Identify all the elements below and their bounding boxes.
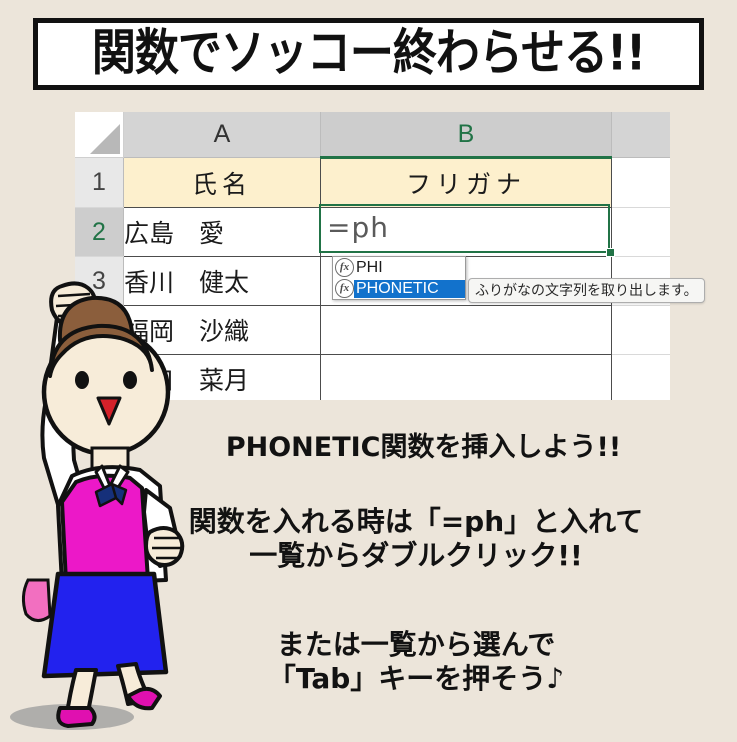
cell-c1[interactable] <box>612 158 671 208</box>
table-row: 1 氏名 フリガナ <box>75 158 670 208</box>
page-title: 関数でソッコー終わらせる!! <box>92 29 645 78</box>
fx-icon: fx <box>335 279 354 298</box>
cheering-office-lady-illustration <box>0 280 210 737</box>
cell-c4[interactable] <box>612 306 671 355</box>
title-banner: 関数でソッコー終わらせる!! <box>33 18 704 90</box>
autocomplete-item-phi[interactable]: fx PHI <box>333 257 465 278</box>
column-header-a[interactable]: A <box>124 112 321 158</box>
cell-b5[interactable] <box>321 355 612 401</box>
select-all-button[interactable] <box>75 112 124 158</box>
column-header-c[interactable]: C <box>612 112 671 158</box>
cell-b4[interactable] <box>321 306 612 355</box>
cell-c5[interactable] <box>612 355 671 401</box>
cell-a2[interactable]: 広島 愛 <box>124 208 321 257</box>
function-tooltip: ふりがなの文字列を取り出します。 <box>468 278 705 303</box>
fill-handle[interactable] <box>606 248 615 257</box>
autocomplete-item-phonetic[interactable]: fx PHONETIC <box>333 278 465 299</box>
row-header-1[interactable]: 1 <box>75 158 124 208</box>
formula-autocomplete-list[interactable]: fx PHI fx PHONETIC <box>332 256 466 300</box>
autocomplete-item-label: PHI <box>354 259 383 277</box>
active-cell-formula-text: =ph <box>327 211 389 244</box>
fx-icon: fx <box>335 258 354 277</box>
row-header-2[interactable]: 2 <box>75 208 124 257</box>
autocomplete-item-label: PHONETIC <box>354 280 465 298</box>
select-all-triangle-icon <box>90 124 120 154</box>
column-header-row: A B C <box>75 112 670 158</box>
cell-a1[interactable]: 氏名 <box>124 158 321 208</box>
cell-c2[interactable] <box>612 208 671 257</box>
column-header-b[interactable]: B <box>321 112 612 158</box>
cell-b1[interactable]: フリガナ <box>321 158 612 208</box>
